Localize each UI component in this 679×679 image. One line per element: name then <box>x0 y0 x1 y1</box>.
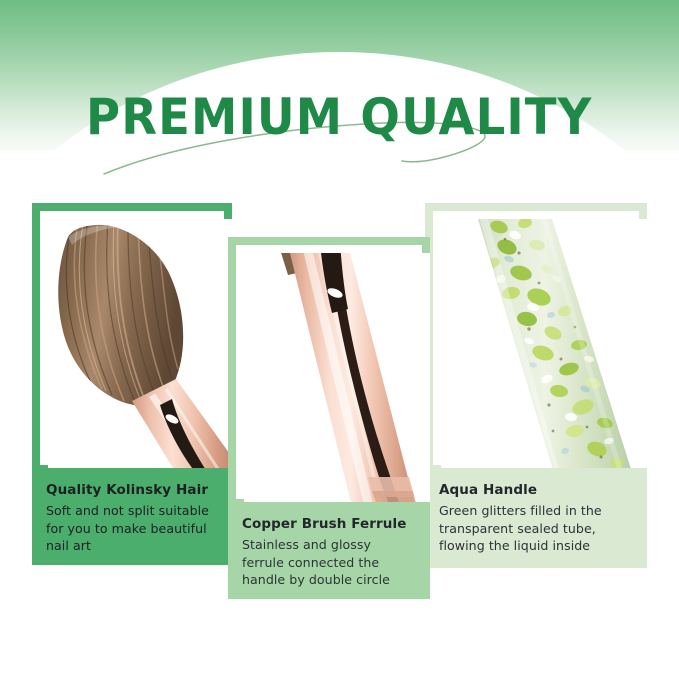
card-photo-frame <box>425 203 647 473</box>
card-title: Copper Brush Ferrule <box>242 516 416 533</box>
kolinsky-brush-head-photo <box>48 219 232 473</box>
premium-quality-infographic: PREMIUM QUALITY <box>0 0 679 679</box>
card-text-panel: Quality Kolinsky Hair Soft and not split… <box>32 468 232 565</box>
card-title: Quality Kolinsky Hair <box>46 482 218 499</box>
page-title-text: PREMIUM QUALITY <box>86 92 592 142</box>
feature-card-copper-ferrule: Copper Brush Ferrule Stainless and gloss… <box>228 237 430 597</box>
card-text-panel: Aqua Handle Green glitters filled in the… <box>425 468 647 568</box>
feature-card-aqua-handle: Aqua Handle Green glitters filled in the… <box>425 203 647 568</box>
card-title: Aqua Handle <box>439 482 633 499</box>
card-text-panel: Copper Brush Ferrule Stainless and gloss… <box>228 502 430 599</box>
card-body: Stainless and glossy ferrule connected t… <box>242 536 416 589</box>
feature-card-kolinsky-hair: Quality Kolinsky Hair Soft and not split… <box>32 203 232 563</box>
card-body: Soft and not split suitable for you to m… <box>46 502 218 555</box>
card-photo-frame <box>228 237 430 507</box>
card-photo-frame <box>32 203 232 473</box>
aqua-glitter-handle-photo <box>441 219 647 473</box>
copper-ferrule-photo <box>244 253 430 507</box>
card-body: Green glitters filled in the transparent… <box>439 502 633 555</box>
page-title: PREMIUM QUALITY <box>0 92 679 142</box>
